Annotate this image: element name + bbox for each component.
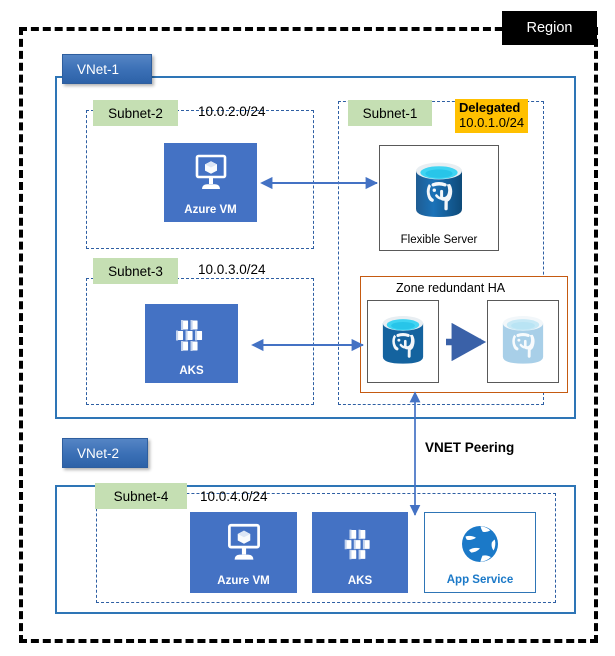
subnet-4-label: Subnet-4	[95, 483, 187, 509]
delegated-text: Delegated	[459, 100, 524, 115]
resource-card-flexible-server[interactable]: Flexible Server	[379, 145, 499, 251]
postgresql-icon	[380, 146, 498, 234]
subnet-1-label: Subnet-1	[348, 100, 432, 126]
resource-label-aks-vnet1: AKS	[179, 366, 203, 378]
subnet-2-label: Subnet-2	[93, 100, 178, 126]
zone-redundant-ha-title: Zone redundant HA	[396, 281, 505, 295]
region-label: Region	[502, 11, 597, 45]
resource-tile-azure-vm-vnet1[interactable]: Azure VM	[164, 143, 257, 222]
subnet-3-cidr: 10.0.3.0/24	[198, 262, 266, 277]
app-service-globe-icon	[425, 513, 535, 575]
subnet-2-cidr: 10.0.2.0/24	[198, 104, 266, 119]
resource-tile-app-service[interactable]: App Service	[424, 512, 536, 593]
postgresql-standby-icon	[488, 301, 558, 378]
subnet-3-label: Subnet-3	[93, 258, 178, 284]
subnet-1-cidr: 10.0.1.0/24	[459, 115, 524, 130]
azure-vm-icon	[164, 143, 257, 205]
postgresql-icon	[368, 301, 438, 378]
vnet-2-label: VNet-2	[62, 438, 148, 468]
resource-tile-azure-vm-vnet2[interactable]: Azure VM	[190, 512, 297, 593]
resource-label-azure-vm-vnet2: Azure VM	[217, 576, 269, 588]
resource-label-app-service: App Service	[447, 575, 513, 587]
resource-label-aks-vnet2: AKS	[348, 576, 372, 588]
azure-vm-icon	[190, 512, 297, 576]
resource-card-ha-standby[interactable]	[487, 300, 559, 383]
resource-label-flexible-server: Flexible Server	[401, 234, 478, 246]
subnet-4-cidr: 10.0.4.0/24	[200, 489, 268, 504]
resource-tile-aks-vnet2[interactable]: AKS	[312, 512, 408, 593]
vnet-peering-label: VNET Peering	[425, 440, 514, 455]
subnet-1-delegated-badge: Delegated 10.0.1.0/24	[455, 99, 528, 133]
vnet-1-label: VNet-1	[62, 54, 152, 84]
resource-label-azure-vm-vnet1: Azure VM	[184, 205, 236, 217]
resource-tile-aks-vnet1[interactable]: AKS	[145, 304, 238, 383]
aks-icon	[145, 304, 238, 366]
diagram-canvas: Region VNet-1 Subnet-2 10.0.2.0/24 Azure…	[0, 0, 615, 656]
resource-card-ha-primary[interactable]	[367, 300, 439, 383]
aks-icon	[312, 512, 408, 576]
